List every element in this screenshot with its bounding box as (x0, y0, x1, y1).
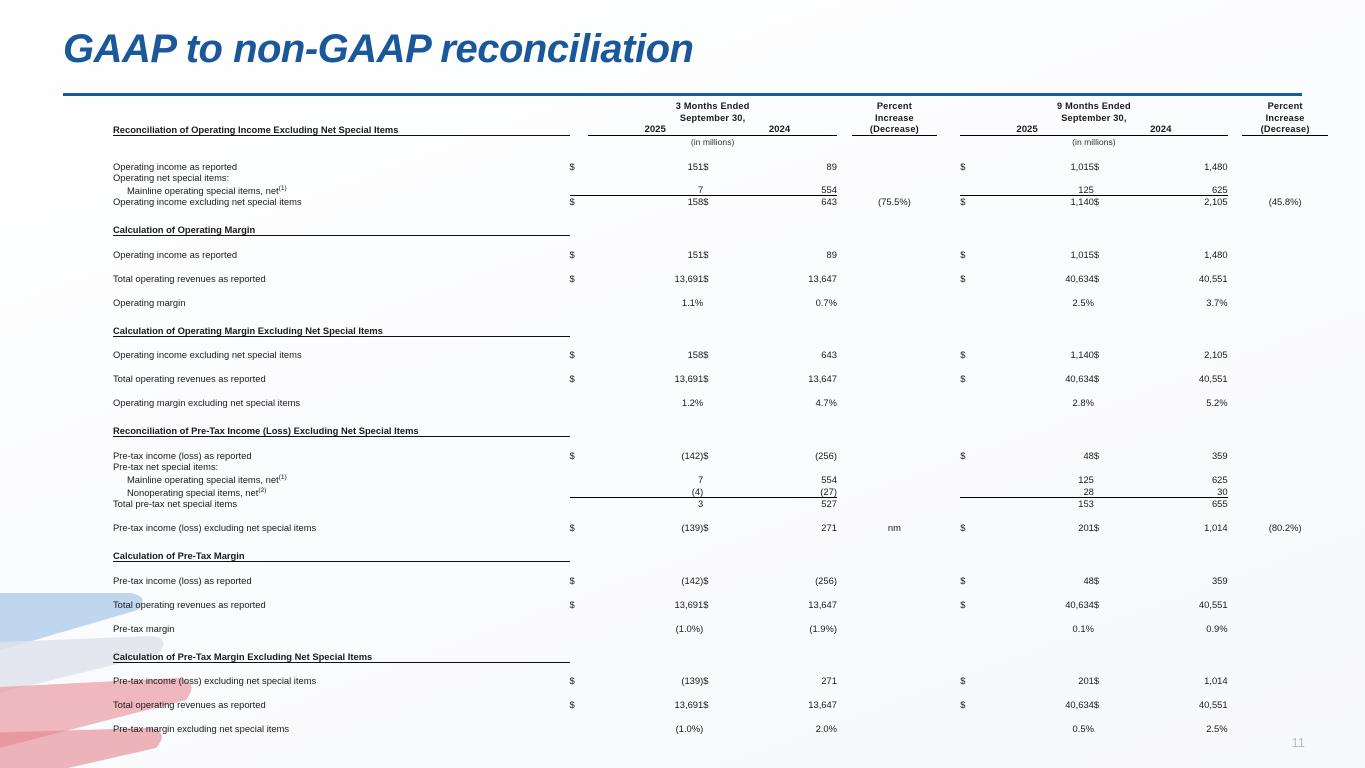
section-heading-filler (570, 651, 1328, 663)
row-label: Operating margin (113, 297, 570, 308)
row-label-text: Total operating revenues as reported (113, 699, 266, 710)
table-row: Operating margin excluding net special i… (113, 397, 1328, 408)
row-label: Pre-tax margin (113, 623, 570, 634)
row-label-text: Operating margin excluding net special i… (113, 397, 300, 408)
value-q3-2025: 13,691 (588, 699, 703, 710)
currency-symbol: $ (570, 599, 589, 610)
currency-symbol (570, 485, 589, 498)
currency-symbol (570, 472, 589, 485)
col-gap (1228, 450, 1243, 461)
value-q3-2025: 1.1% (588, 297, 703, 308)
row-label-text: Mainline operating special items, net (127, 474, 279, 485)
table-row: Pre-tax margin excluding net special ite… (113, 723, 1328, 734)
row-spacer (113, 437, 1328, 450)
percent-change-q3: (75.5%) (852, 196, 938, 208)
percent-change-ytd: (80.2%) (1242, 522, 1328, 533)
row-spacer (113, 533, 1328, 550)
currency-symbol: $ (960, 196, 979, 208)
value-q3-2025: 1.2% (588, 397, 703, 408)
row-label: Operating margin excluding net special i… (113, 397, 570, 408)
value-ytd-2024: 40,551 (1113, 599, 1228, 610)
value-q3-2024: 271 (722, 522, 837, 533)
table-row: Nonoperating special items, net(2)(4)(27… (113, 485, 1328, 498)
value-ytd-2024: 2,105 (1113, 349, 1228, 360)
value-q3-2025: (139) (588, 675, 703, 686)
section-heading: Calculation of Operating Margin (113, 224, 570, 236)
value-ytd-2024: 1,480 (1113, 161, 1228, 172)
percent-change-ytd (1242, 723, 1328, 734)
currency-symbol (1094, 397, 1113, 408)
table-row: Mainline operating special items, net(1)… (113, 472, 1328, 485)
col-gap (1228, 575, 1243, 586)
section-heading-row: Calculation of Operating Margin (113, 224, 1328, 236)
percent-change-ytd: (45.8%) (1242, 196, 1328, 208)
col-gap (837, 249, 852, 260)
value-ytd-2025: 40,634 (979, 273, 1094, 284)
row-label: Mainline operating special items, net(1) (113, 472, 570, 485)
value-ytd-2024: 0.9% (1113, 623, 1228, 634)
row-label-text: Pre-tax income (loss) excluding net spec… (113, 522, 316, 533)
section-heading-row: Calculation of Pre-Tax Margin (113, 550, 1328, 562)
percent-change-q3 (852, 723, 938, 734)
currency-symbol: $ (703, 450, 722, 461)
row-label-text: Total operating revenues as reported (113, 599, 266, 610)
col-gap (837, 161, 852, 172)
col-gap (837, 349, 852, 360)
currency-symbol: $ (1094, 373, 1113, 384)
col-gap (1228, 249, 1243, 260)
currency-symbol (570, 172, 589, 183)
currency-symbol: $ (570, 161, 589, 172)
table-row: Operating income excluding net special i… (113, 196, 1328, 208)
section-heading-filler (570, 550, 1328, 562)
col-gap (1228, 297, 1243, 308)
section-heading: Calculation of Pre-Tax Margin Excluding … (113, 651, 570, 663)
currency-symbol (960, 397, 979, 408)
value-q3-2024: (256) (722, 450, 837, 461)
value-q3-2025 (588, 172, 703, 183)
value-q3-2024: 89 (722, 249, 837, 260)
currency-symbol (703, 172, 722, 183)
currency-symbol: $ (570, 575, 589, 586)
value-ytd-2025: 125 (979, 472, 1094, 485)
percent-change-q3 (852, 297, 938, 308)
currency-symbol (960, 172, 979, 183)
currency-symbol: $ (703, 349, 722, 360)
currency-symbol: $ (1094, 599, 1113, 610)
currency-symbol (703, 397, 722, 408)
currency-symbol: $ (703, 675, 722, 686)
title-divider (63, 93, 1302, 96)
value-ytd-2024: 40,551 (1113, 373, 1228, 384)
row-spacer (113, 710, 1328, 723)
col-gap (1228, 472, 1243, 485)
value-ytd-2024: 359 (1113, 450, 1228, 461)
value-q3-2025: (1.0%) (588, 723, 703, 734)
row-spacer (113, 634, 1328, 651)
header-year-2024-ytd: 2024 (1094, 124, 1228, 136)
col-gap (1228, 723, 1243, 734)
value-q3-2024: 13,647 (722, 273, 837, 284)
value-ytd-2025: 1,015 (979, 161, 1094, 172)
value-q3-2024: 13,647 (722, 699, 837, 710)
value-ytd-2024: 5.2% (1113, 397, 1228, 408)
value-q3-2024: 527 (722, 498, 837, 510)
header-row-period: 3 Months Ended Percent 9 Months Ended Pe… (113, 100, 1328, 112)
value-ytd-2024: 30 (1113, 485, 1228, 498)
row-label: Pre-tax income (loss) as reported (113, 450, 570, 461)
table-row: Operating net special items: (113, 172, 1328, 183)
percent-change-q3 (852, 273, 938, 284)
header-3months-ended: 3 Months Ended (588, 100, 837, 112)
percent-change-q3 (852, 461, 938, 472)
percent-change-q3 (852, 485, 938, 498)
currency-symbol (960, 723, 979, 734)
value-q3-2024: 271 (722, 675, 837, 686)
header-date-9mo: September 30, (960, 112, 1227, 124)
row-spacer (113, 360, 1328, 373)
currency-symbol (570, 397, 589, 408)
row-spacer (113, 509, 1328, 522)
currency-symbol: $ (570, 522, 589, 533)
currency-symbol: $ (1094, 161, 1113, 172)
table-row: Mainline operating special items, net(1)… (113, 183, 1328, 196)
header-pct-2-line3: (Decrease) (1242, 124, 1328, 136)
col-gap (937, 575, 960, 586)
value-q3-2024: 0.7% (722, 297, 837, 308)
row-spacer (113, 384, 1328, 397)
value-q3-2024 (722, 461, 837, 472)
value-q3-2025: (4) (588, 485, 703, 498)
percent-change-q3 (852, 623, 938, 634)
currency-symbol: $ (570, 699, 589, 710)
col-gap (1228, 699, 1243, 710)
row-spacer (113, 562, 1328, 575)
percent-change-ytd (1242, 599, 1328, 610)
value-ytd-2024 (1113, 172, 1228, 183)
value-q3-2024: 89 (722, 161, 837, 172)
percent-change-ytd (1242, 172, 1328, 183)
percent-change-q3 (852, 575, 938, 586)
col-gap (837, 172, 852, 183)
row-label: Total pre-tax net special items (113, 498, 570, 510)
col-gap (937, 349, 960, 360)
currency-symbol (570, 623, 589, 634)
row-label-text: Nonoperating special items, net (127, 487, 258, 498)
col-gap (837, 450, 852, 461)
col-gap (837, 675, 852, 686)
percent-change-q3 (852, 699, 938, 710)
value-ytd-2025: 0.5% (979, 723, 1094, 734)
value-ytd-2024: 359 (1113, 575, 1228, 586)
row-label-text: Operating income excluding net special i… (113, 196, 302, 207)
section-heading: Reconciliation of Pre-Tax Income (Loss) … (113, 425, 570, 437)
currency-symbol: $ (1094, 575, 1113, 586)
percent-change-ytd (1242, 450, 1328, 461)
currency-symbol (703, 461, 722, 472)
percent-change-q3 (852, 249, 938, 260)
col-gap (937, 675, 960, 686)
value-ytd-2025: 201 (979, 675, 1094, 686)
percent-change-ytd (1242, 161, 1328, 172)
table-body: Operating income as reported$151$89$1,01… (113, 148, 1328, 735)
value-q3-2025: (142) (588, 450, 703, 461)
value-q3-2024 (722, 172, 837, 183)
currency-symbol: $ (570, 675, 589, 686)
percent-change-ytd (1242, 397, 1328, 408)
percent-change-q3 (852, 373, 938, 384)
col-gap (937, 273, 960, 284)
table-row: Total operating revenues as reported$13,… (113, 699, 1328, 710)
currency-symbol (703, 623, 722, 634)
col-gap (837, 397, 852, 408)
currency-symbol: $ (960, 273, 979, 284)
currency-symbol: $ (570, 373, 589, 384)
header-row-units: (in millions) (in millions) (113, 136, 1328, 148)
col-gap (837, 575, 852, 586)
table-row: Pre-tax net special items: (113, 461, 1328, 472)
table-row: Pre-tax income (loss) as reported$(142)$… (113, 450, 1328, 461)
currency-symbol: $ (960, 450, 979, 461)
section-heading-row: Reconciliation of Pre-Tax Income (Loss) … (113, 425, 1328, 437)
row-label-text: Operating net special items: (113, 172, 229, 183)
table-row: Total operating revenues as reported$13,… (113, 273, 1328, 284)
percent-change-ytd (1242, 485, 1328, 498)
currency-symbol: $ (960, 699, 979, 710)
footnote-marker: (1) (279, 474, 287, 481)
currency-symbol: $ (703, 249, 722, 260)
col-gap (937, 172, 960, 183)
row-spacer (113, 662, 1328, 675)
row-label: Total operating revenues as reported (113, 599, 570, 610)
currency-symbol (960, 623, 979, 634)
value-ytd-2025: 48 (979, 575, 1094, 586)
percent-change-ytd (1242, 183, 1328, 196)
row-label-text: Operating income as reported (113, 161, 237, 172)
section-heading: Calculation of Pre-Tax Margin (113, 550, 570, 562)
percent-change-ytd (1242, 349, 1328, 360)
value-q3-2025: 158 (588, 196, 703, 208)
row-label: Total operating revenues as reported (113, 699, 570, 710)
percent-change-ytd (1242, 623, 1328, 634)
footnote-marker: (1) (279, 185, 287, 192)
percent-change-q3 (852, 397, 938, 408)
col-gap (937, 196, 960, 208)
row-spacer (113, 408, 1328, 425)
row-label-text: Pre-tax net special items: (113, 461, 218, 472)
value-q3-2025: 7 (588, 183, 703, 196)
col-gap (1228, 183, 1243, 196)
col-gap (937, 623, 960, 634)
row-label-text: Pre-tax income (loss) excluding net spec… (113, 675, 316, 686)
row-label: Mainline operating special items, net(1) (113, 183, 570, 196)
value-q3-2025: 3 (588, 498, 703, 510)
row-label: Pre-tax income (loss) as reported (113, 575, 570, 586)
percent-change-ytd (1242, 373, 1328, 384)
value-ytd-2024: 2,105 (1113, 196, 1228, 208)
value-ytd-2024: 1,014 (1113, 522, 1228, 533)
header-pct-1-line1: Percent (852, 100, 938, 112)
page-title: GAAP to non-GAAP reconciliation (63, 27, 693, 72)
percent-change-q3 (852, 161, 938, 172)
value-q3-2025: 13,691 (588, 373, 703, 384)
row-label: Operating income excluding net special i… (113, 349, 570, 360)
table-row: Total operating revenues as reported$13,… (113, 599, 1328, 610)
col-gap (1228, 485, 1243, 498)
value-q3-2024: 13,647 (722, 373, 837, 384)
col-gap (837, 373, 852, 384)
value-q3-2025 (588, 461, 703, 472)
value-ytd-2025: 125 (979, 183, 1094, 196)
percent-change-q3 (852, 450, 938, 461)
value-ytd-2024: 625 (1113, 472, 1228, 485)
col-gap (1228, 273, 1243, 284)
header-pct-1-line3: (Decrease) (852, 124, 938, 136)
table-head-group: 3 Months Ended Percent 9 Months Ended Pe… (113, 100, 1328, 148)
col-gap (937, 183, 960, 196)
col-gap (1228, 172, 1243, 183)
value-ytd-2024: 625 (1113, 183, 1228, 196)
col-gap (937, 161, 960, 172)
row-spacer (113, 236, 1328, 249)
currency-symbol (1094, 472, 1113, 485)
currency-symbol: $ (570, 450, 589, 461)
currency-symbol: $ (703, 161, 722, 172)
currency-symbol (703, 297, 722, 308)
col-gap (837, 485, 852, 498)
row-label: Pre-tax income (loss) excluding net spec… (113, 522, 570, 533)
value-q3-2025: (1.0%) (588, 623, 703, 634)
col-gap (837, 183, 852, 196)
col-gap (937, 472, 960, 485)
currency-symbol: $ (960, 349, 979, 360)
currency-symbol (960, 183, 979, 196)
col-gap (1228, 196, 1243, 208)
currency-symbol: $ (570, 273, 589, 284)
section-heading-filler (570, 325, 1328, 337)
col-gap (937, 485, 960, 498)
currency-symbol: $ (1094, 675, 1113, 686)
value-ytd-2024: 2.5% (1113, 723, 1228, 734)
col-gap (937, 461, 960, 472)
currency-symbol: $ (1094, 196, 1113, 208)
row-spacer (113, 686, 1328, 699)
currency-symbol (1094, 172, 1113, 183)
header-year-2025-q3: 2025 (588, 124, 722, 136)
percent-change-q3 (852, 675, 938, 686)
col-gap (1228, 599, 1243, 610)
row-label-text: Pre-tax margin (113, 623, 174, 634)
header-pct-1-line2: Increase (852, 112, 938, 124)
value-q3-2025: (142) (588, 575, 703, 586)
table-row: Total operating revenues as reported$13,… (113, 373, 1328, 384)
section-heading-filler (570, 425, 1328, 437)
percent-change-q3 (852, 172, 938, 183)
row-label: Total operating revenues as reported (113, 273, 570, 284)
currency-symbol: $ (960, 599, 979, 610)
currency-symbol: $ (960, 249, 979, 260)
currency-symbol (703, 723, 722, 734)
section-heading: Calculation of Operating Margin Excludin… (113, 325, 570, 337)
value-ytd-2025: 201 (979, 522, 1094, 533)
table-row: Pre-tax income (loss) excluding net spec… (113, 675, 1328, 686)
percent-change-q3 (852, 498, 938, 510)
row-spacer (113, 308, 1328, 325)
row-label: Pre-tax margin excluding net special ite… (113, 723, 570, 734)
value-q3-2024: 643 (722, 196, 837, 208)
percent-change-ytd (1242, 675, 1328, 686)
header-date-3mo: September 30, (588, 112, 837, 124)
value-ytd-2025: 28 (979, 485, 1094, 498)
row-spacer (113, 148, 1328, 161)
value-q3-2024: (1.9%) (722, 623, 837, 634)
value-ytd-2024 (1113, 461, 1228, 472)
value-ytd-2025 (979, 461, 1094, 472)
col-gap (937, 599, 960, 610)
value-q3-2024: 643 (722, 349, 837, 360)
table-row: Operating income as reported$151$89$1,01… (113, 161, 1328, 172)
row-label: Nonoperating special items, net(2) (113, 485, 570, 498)
currency-symbol: $ (960, 675, 979, 686)
units-label-3mo: (in millions) (588, 136, 837, 148)
row-spacer (113, 260, 1328, 273)
currency-symbol (1094, 183, 1113, 196)
value-ytd-2024: 40,551 (1113, 273, 1228, 284)
percent-change-q3 (852, 183, 938, 196)
row-label: Operating income as reported (113, 249, 570, 260)
value-ytd-2025: 2.8% (979, 397, 1094, 408)
row-label-text: Pre-tax income (loss) as reported (113, 575, 252, 586)
percent-change-q3 (852, 599, 938, 610)
reconciliation-table: 3 Months Ended Percent 9 Months Ended Pe… (113, 100, 1328, 734)
currency-symbol: $ (570, 196, 589, 208)
row-label-text: Operating margin (113, 297, 185, 308)
currency-symbol (960, 461, 979, 472)
currency-symbol: $ (703, 273, 722, 284)
col-gap (837, 498, 852, 510)
header-row-date: September 30, Increase September 30, Inc… (113, 112, 1328, 124)
row-label: Pre-tax net special items: (113, 461, 570, 472)
table-row: Operating margin1.1%0.7%2.5%3.7% (113, 297, 1328, 308)
col-gap (937, 397, 960, 408)
col-gap (837, 297, 852, 308)
percent-change-ytd (1242, 273, 1328, 284)
currency-symbol (703, 485, 722, 498)
percent-change-q3: nm (852, 522, 938, 533)
percent-change-ytd (1242, 699, 1328, 710)
table-row: Pre-tax income (loss) as reported$(142)$… (113, 575, 1328, 586)
col-gap (837, 723, 852, 734)
section-heading-filler (570, 224, 1328, 236)
row-label-text: Operating income as reported (113, 249, 237, 260)
col-gap (1228, 522, 1243, 533)
col-gap (1228, 498, 1243, 510)
row-label-text: Total operating revenues as reported (113, 373, 266, 384)
percent-change-q3 (852, 472, 938, 485)
value-ytd-2025: 40,634 (979, 599, 1094, 610)
col-gap (1228, 675, 1243, 686)
percent-change-ytd (1242, 297, 1328, 308)
percent-change-ytd (1242, 575, 1328, 586)
row-label: Total operating revenues as reported (113, 373, 570, 384)
percent-change-ytd (1242, 249, 1328, 260)
header-first-section-heading: Reconciliation of Operating Income Exclu… (113, 124, 570, 136)
value-ytd-2024: 655 (1113, 498, 1228, 510)
value-ytd-2025: 153 (979, 498, 1094, 510)
currency-symbol (960, 472, 979, 485)
col-gap (937, 699, 960, 710)
col-gap (837, 196, 852, 208)
